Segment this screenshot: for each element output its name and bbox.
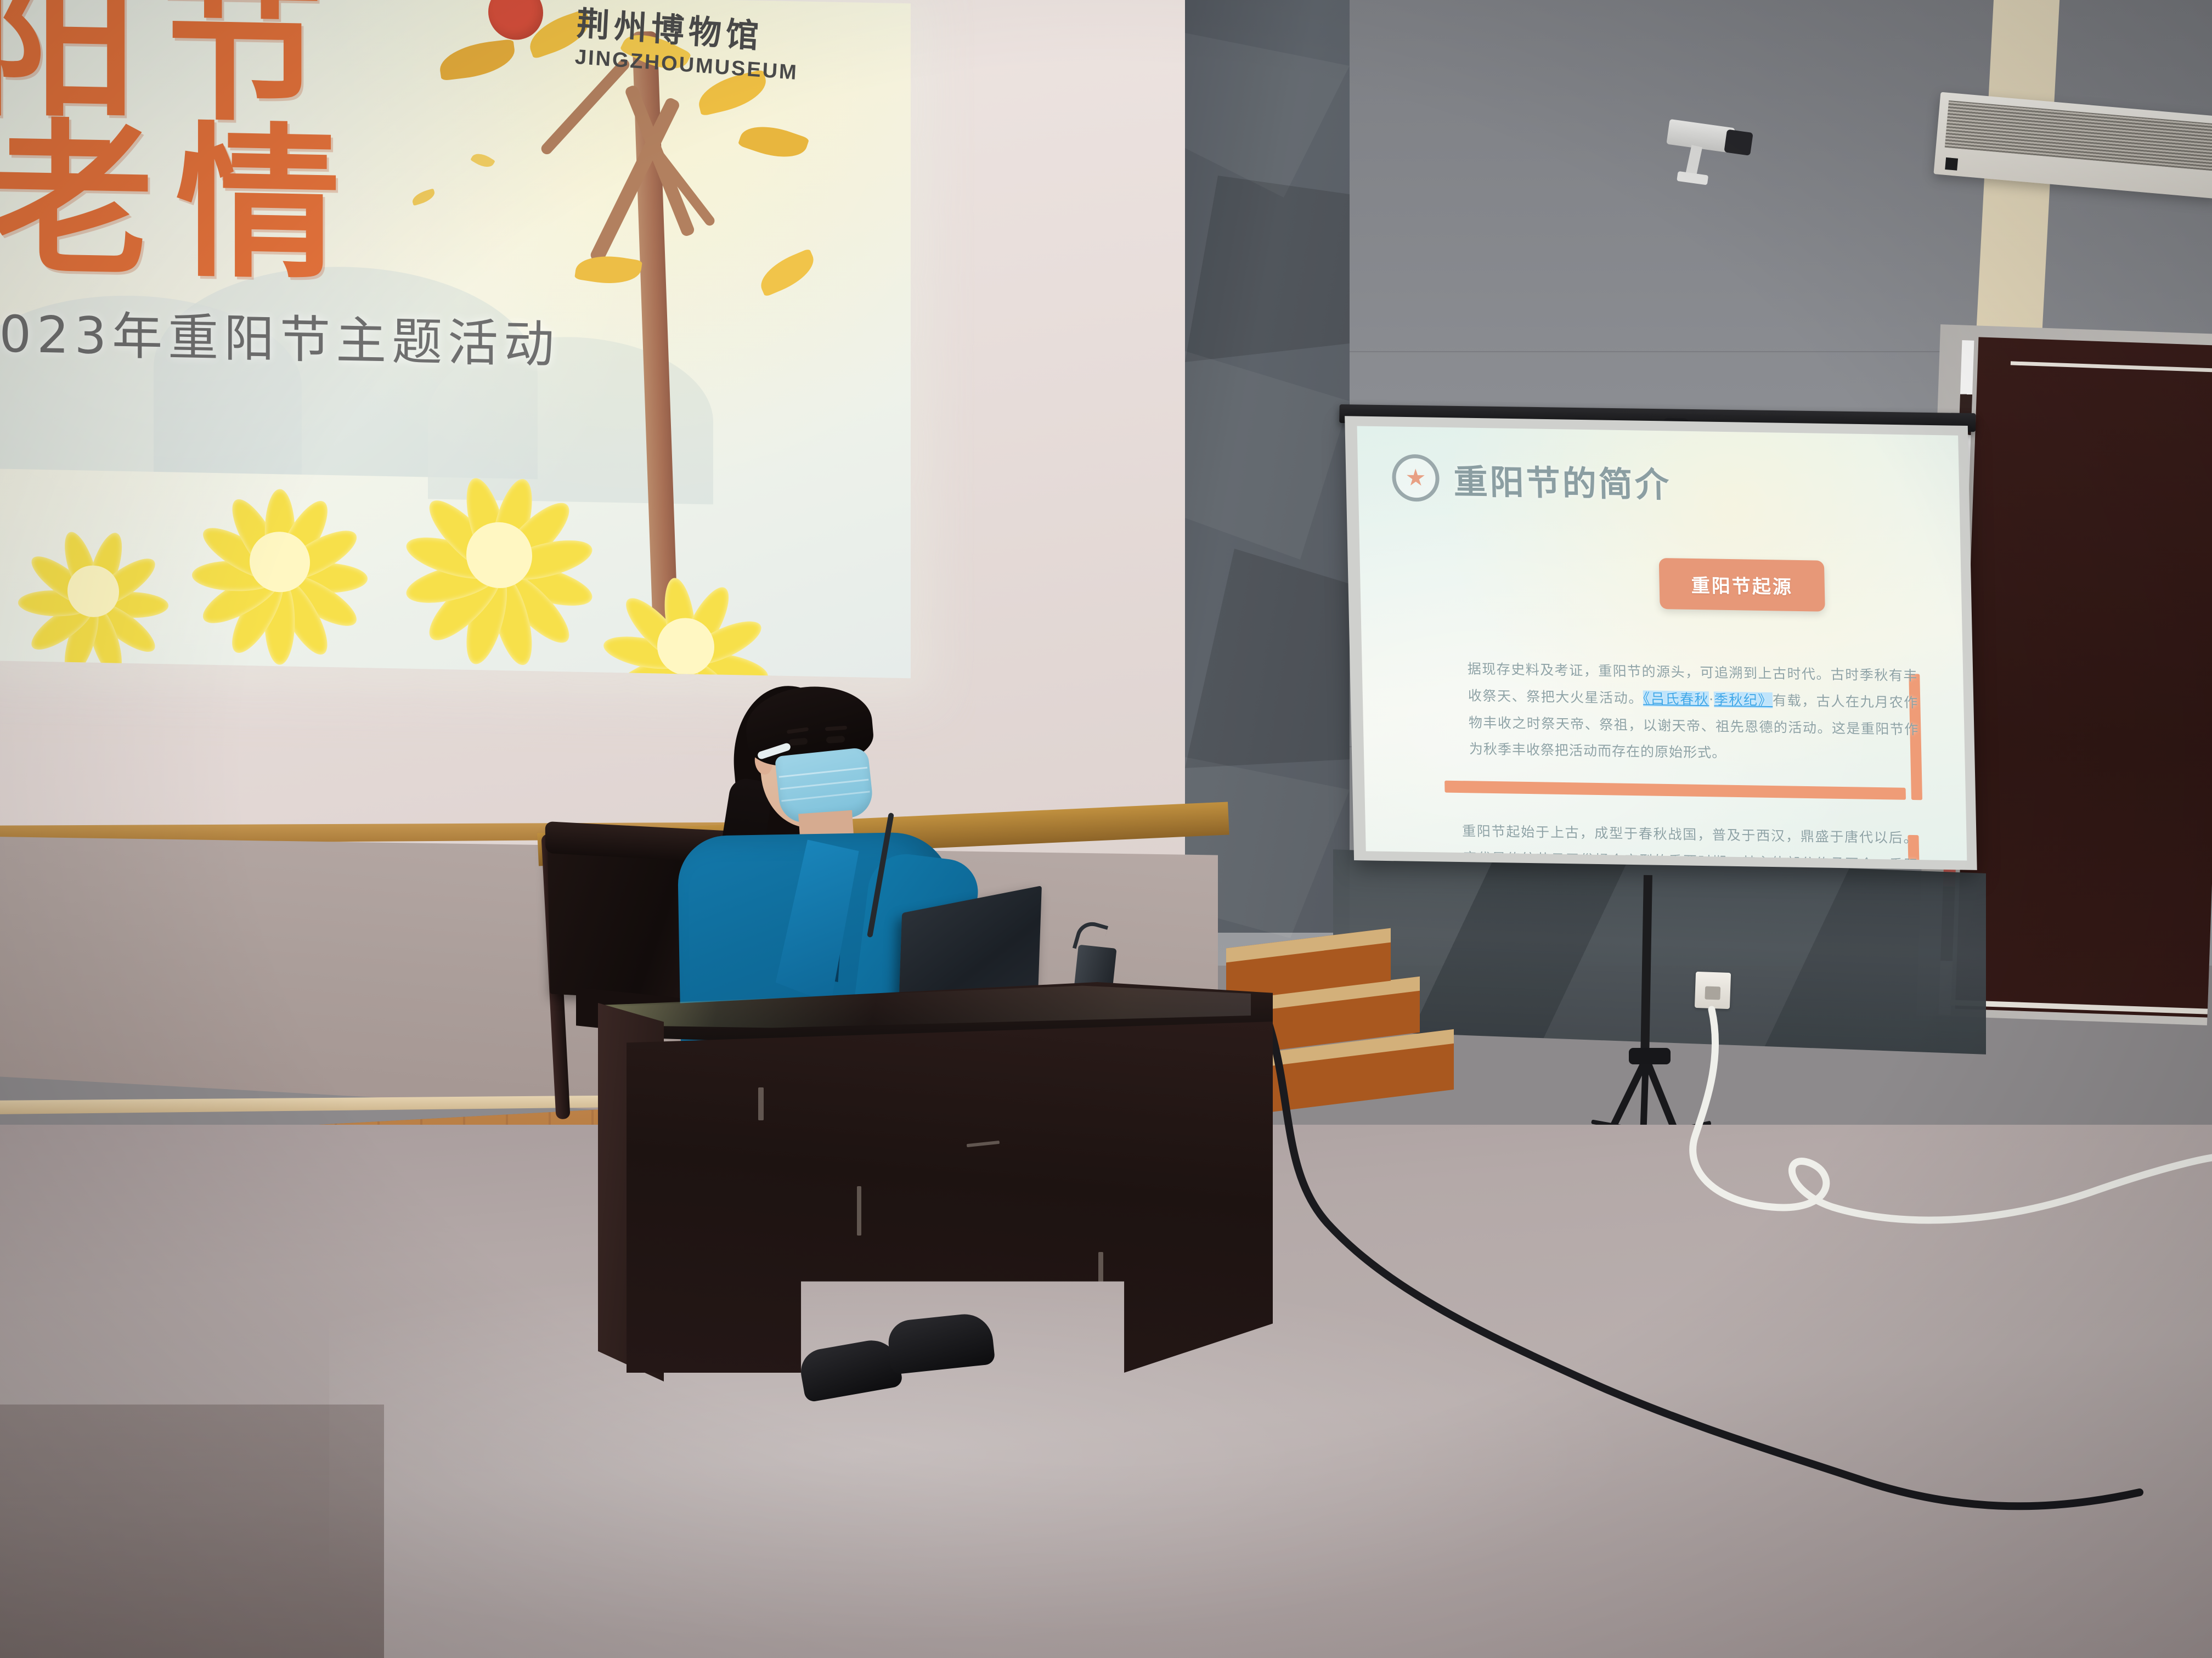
faceted-wall-panel [1185, 0, 1350, 933]
eye [826, 736, 845, 743]
chrysanthemum-illustration [165, 444, 395, 678]
slide-header: 重阳节的简介 [1392, 453, 1672, 506]
slide-link[interactable]: 季秋纪》 [1714, 691, 1773, 708]
slide-paragraph-1: 据现存史料及考证，重阳节的源头，可追溯到上古时代。古时季秋有丰收祭天、祭把大火星… [1467, 656, 1920, 770]
shoe [887, 1311, 996, 1374]
banner-headline: 阳节 老情 [0, 0, 362, 284]
museum-logo: 荆州博物馆 JINGZHOUMUSEUM [574, 0, 802, 85]
slide-title: 重阳节的简介 [1453, 454, 1672, 506]
exit-door[interactable] [1955, 337, 2212, 1017]
slide-section-pill: 重阳节起源 [1659, 558, 1825, 612]
slide-link[interactable]: 《吕氏春秋 [1643, 690, 1709, 707]
flower-icon [1392, 454, 1440, 501]
banner-subtitle: 2023年重阳节主题活动 [0, 292, 560, 377]
lecture-hall-photo: 阳节 老情 2023年重阳节主题活动 荆州博物馆 JINGZHOUMUSEUM [0, 0, 2212, 1658]
tripod-hub [1629, 1048, 1671, 1064]
power-outlet[interactable] [1695, 972, 1731, 1009]
slide-content: 重阳节的简介 重阳节起源 据现存史料及考证，重阳节的源头，可追溯到上古时代。古时… [1357, 426, 1967, 860]
projector-screen: 重阳节的简介 重阳节起源 据现存史料及考证，重阳节的源头，可追溯到上古时代。古时… [1328, 402, 1996, 888]
chrysanthemum-illustration [0, 490, 192, 678]
projected-banner: 阳节 老情 2023年重阳节主题活动 荆州博物馆 JINGZHOUMUSEUM [0, 0, 911, 678]
chrysanthemum-illustration [576, 535, 795, 679]
